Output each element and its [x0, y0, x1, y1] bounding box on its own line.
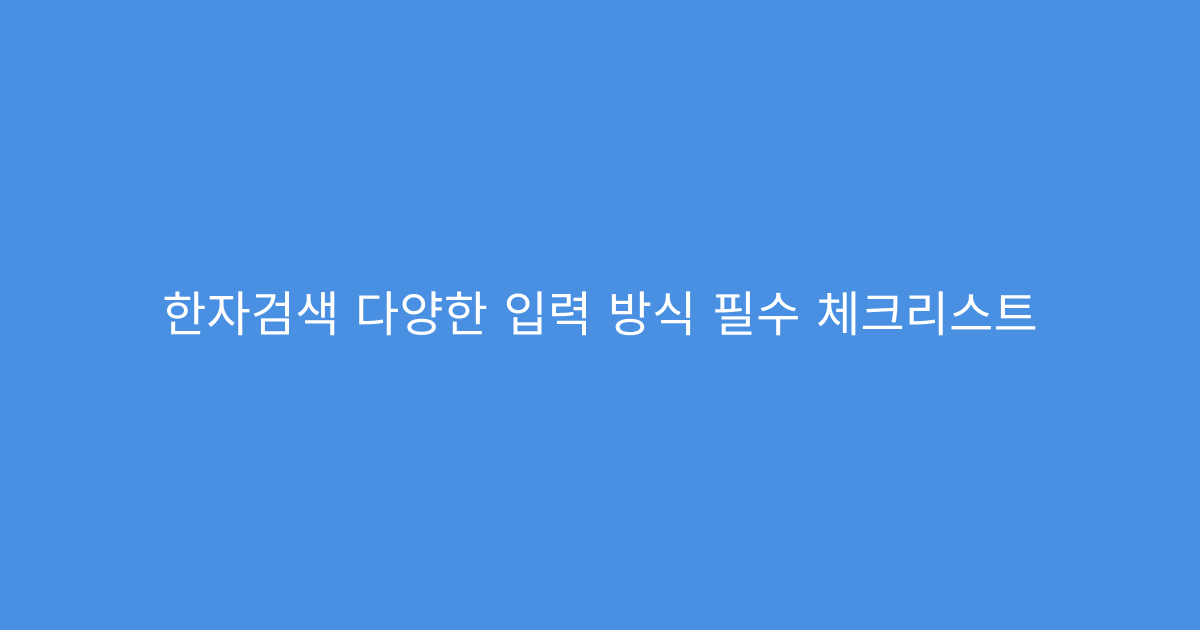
og-image-card: 한자검색 다양한 입력 방식 필수 체크리스트	[0, 0, 1200, 630]
page-title: 한자검색 다양한 입력 방식 필수 체크리스트	[162, 285, 1038, 345]
title-container: 한자검색 다양한 입력 방식 필수 체크리스트	[0, 285, 1200, 345]
